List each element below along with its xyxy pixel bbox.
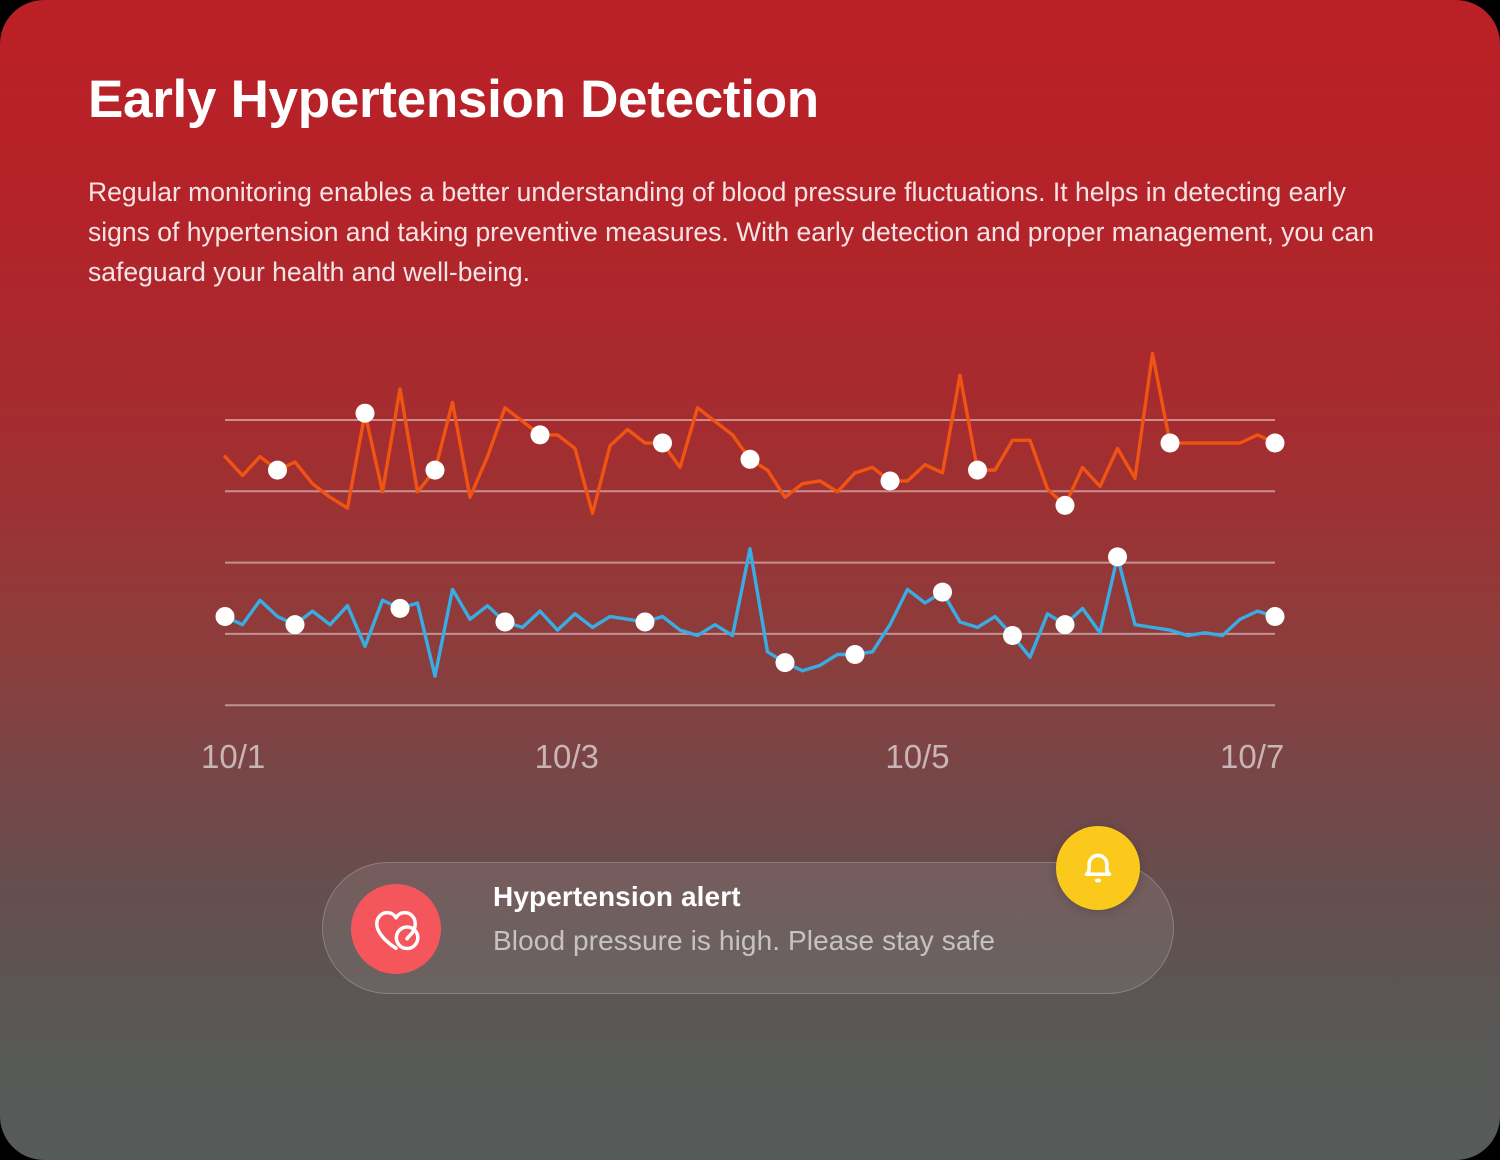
- chart-marker[interactable]: [531, 425, 550, 444]
- heart-gauge-glyph: [368, 901, 424, 957]
- bell-glyph: [1075, 845, 1121, 891]
- heart-gauge-icon: [351, 884, 441, 974]
- chart-line-systolic: [225, 354, 1275, 514]
- chart-marker[interactable]: [286, 615, 305, 634]
- chart-line-diastolic: [225, 549, 1275, 676]
- chart-marker[interactable]: [933, 583, 952, 602]
- alert-title: Hypertension alert: [493, 881, 1133, 913]
- chart-marker[interactable]: [776, 653, 795, 672]
- alert-text-block: Hypertension alert Blood pressure is hig…: [493, 881, 1133, 957]
- chart-marker[interactable]: [391, 599, 410, 618]
- x-axis-label: 10/7: [1220, 738, 1284, 776]
- hypertension-card: Early Hypertension Detection Regular mon…: [0, 0, 1500, 1160]
- chart-x-axis: 10/110/310/510/7: [0, 738, 1500, 798]
- chart-marker[interactable]: [636, 612, 655, 631]
- chart-marker[interactable]: [1056, 615, 1075, 634]
- chart-marker[interactable]: [1108, 547, 1127, 566]
- chart-marker[interactable]: [1056, 496, 1075, 515]
- chart-marker[interactable]: [216, 607, 235, 626]
- x-axis-label: 10/5: [885, 738, 949, 776]
- chart-markers-layer: [216, 404, 1285, 672]
- chart-marker[interactable]: [1266, 434, 1285, 453]
- chart-marker[interactable]: [1266, 607, 1285, 626]
- chart-series-layer: [225, 354, 1275, 677]
- chart-marker[interactable]: [1003, 626, 1022, 645]
- chart-marker[interactable]: [1161, 434, 1180, 453]
- chart-marker[interactable]: [356, 404, 375, 423]
- chart-marker[interactable]: [968, 461, 987, 480]
- alert-subtitle: Blood pressure is high. Please stay safe: [493, 925, 1133, 957]
- bell-icon[interactable]: [1056, 826, 1140, 910]
- chart-marker[interactable]: [496, 612, 515, 631]
- chart-marker[interactable]: [426, 461, 445, 480]
- chart-marker[interactable]: [846, 645, 865, 664]
- x-axis-label: 10/3: [535, 738, 599, 776]
- chart-marker[interactable]: [881, 471, 900, 490]
- chart-marker[interactable]: [741, 450, 760, 469]
- alert-card[interactable]: Hypertension alert Blood pressure is hig…: [322, 862, 1174, 994]
- chart-marker[interactable]: [653, 434, 672, 453]
- x-axis-label: 10/1: [201, 738, 265, 776]
- chart-marker[interactable]: [268, 461, 287, 480]
